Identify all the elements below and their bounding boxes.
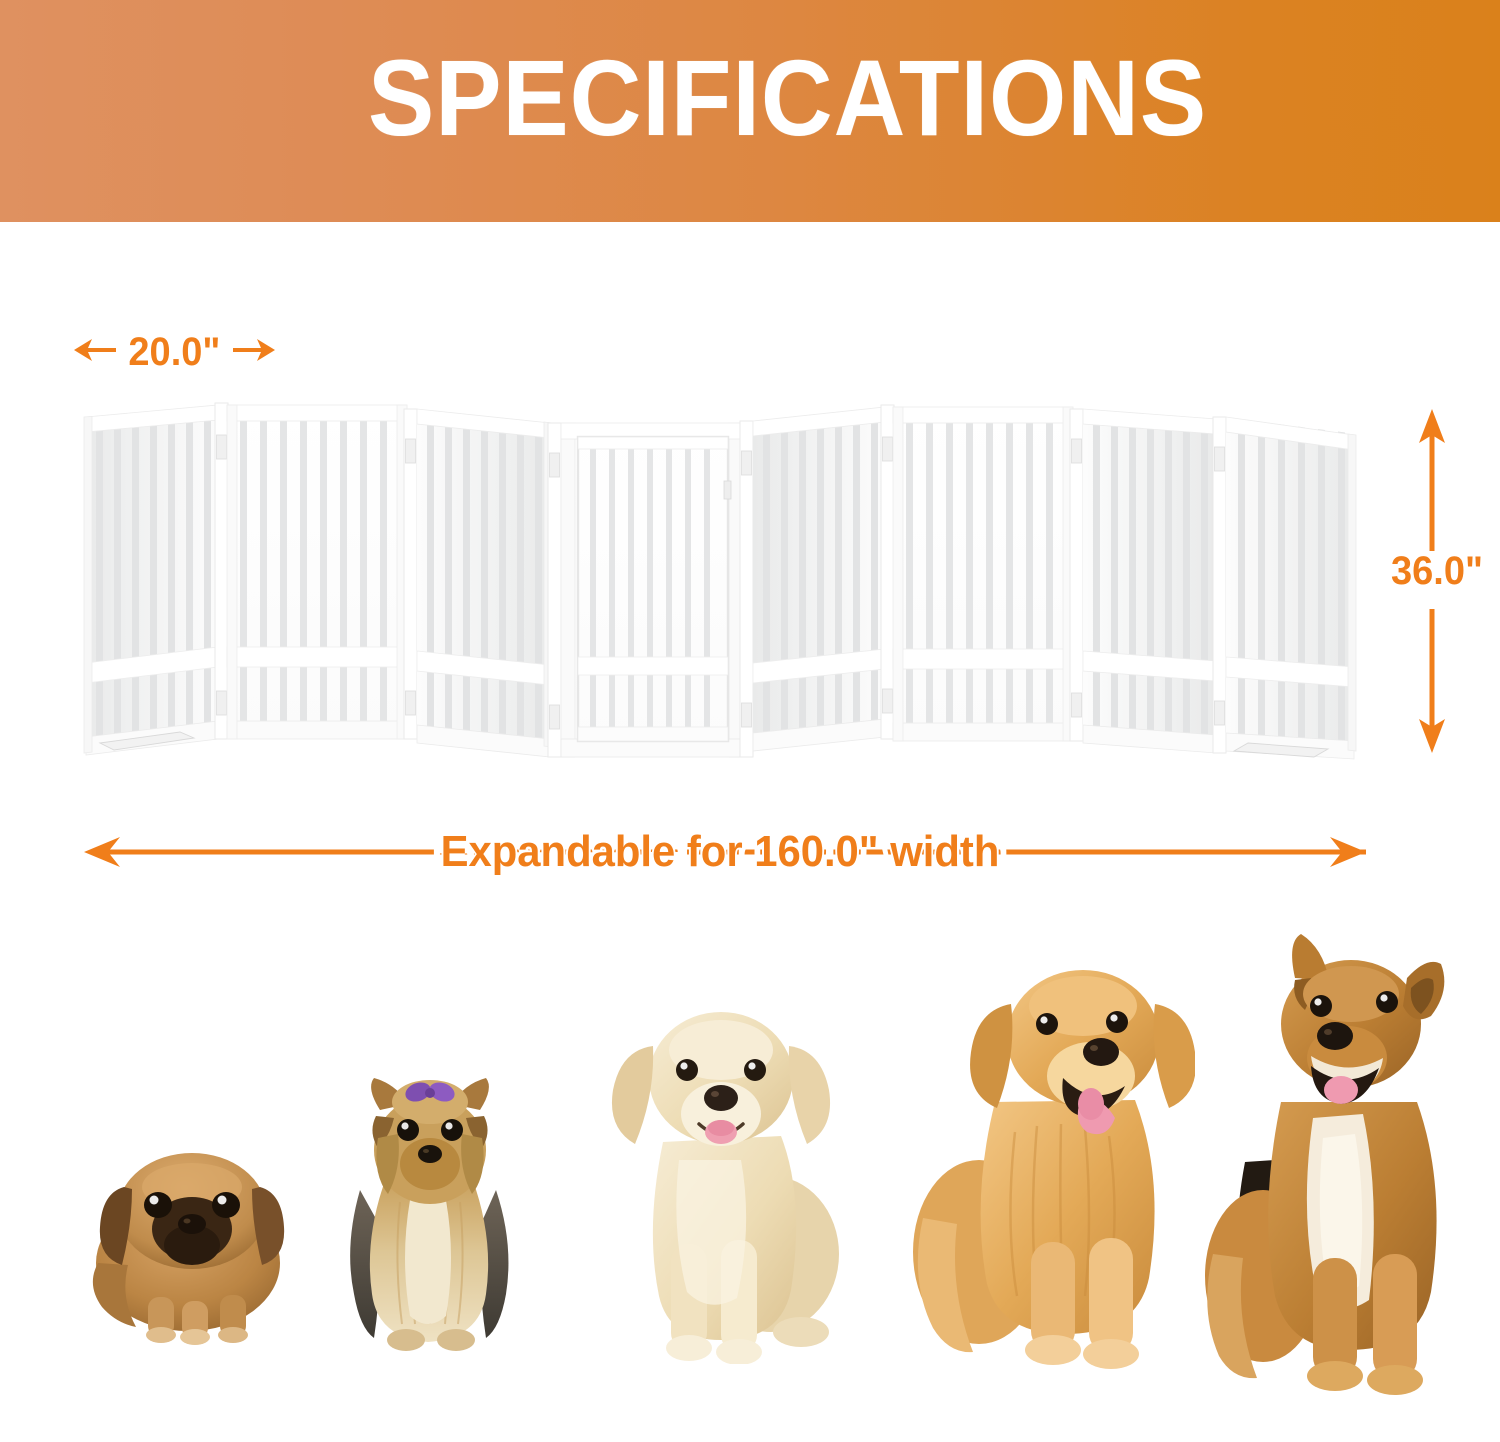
total-width-label: Expandable for 160.0" width — [36, 820, 1404, 884]
gate-hinge-1 — [215, 403, 228, 739]
gate-panel-3 — [417, 409, 552, 757]
dog-pekingese-puppy — [70, 1145, 320, 1350]
height-label: 36.0" — [1381, 548, 1493, 594]
gate-hinge-4 — [740, 421, 753, 757]
gate-panel-1 — [84, 405, 218, 755]
header-banner: SPECIFICATIONS — [0, 0, 1500, 222]
panel-width-dimension: 20.0" — [72, 332, 277, 372]
gate-panel-2 — [227, 405, 407, 739]
gate-panel-6 — [893, 407, 1073, 741]
gate-hinge-2 — [404, 409, 417, 739]
arrow-left-icon — [72, 335, 118, 370]
gate-hinge-3 — [548, 423, 561, 757]
panel-width-label: 20.0" — [128, 332, 220, 372]
gate-panel-4-walk-through-door[interactable] — [561, 423, 743, 757]
gate-latch-icon — [724, 481, 731, 499]
gate-panel-8 — [1226, 417, 1356, 759]
gate-panel-7 — [1083, 409, 1216, 753]
page-title: SPECIFICATIONS — [368, 44, 1207, 152]
dog-size-comparison-row — [0, 930, 1500, 1442]
dog-labrador-retriever-puppy — [595, 992, 860, 1369]
dog-shepherd-mix — [1195, 932, 1480, 1407]
arrow-right-icon — [231, 335, 277, 370]
gate-hinge-6 — [1070, 409, 1083, 741]
gate-panel-5 — [753, 407, 885, 751]
specifications-infographic: SPECIFICATIONS 20.0" — [0, 0, 1500, 1442]
gate-hinge-5 — [881, 405, 894, 739]
gate-hinge-7 — [1213, 417, 1226, 753]
pet-gate-illustration — [70, 395, 1370, 775]
dog-yorkshire-terrier — [318, 1072, 543, 1359]
dog-golden-retriever — [905, 952, 1195, 1377]
